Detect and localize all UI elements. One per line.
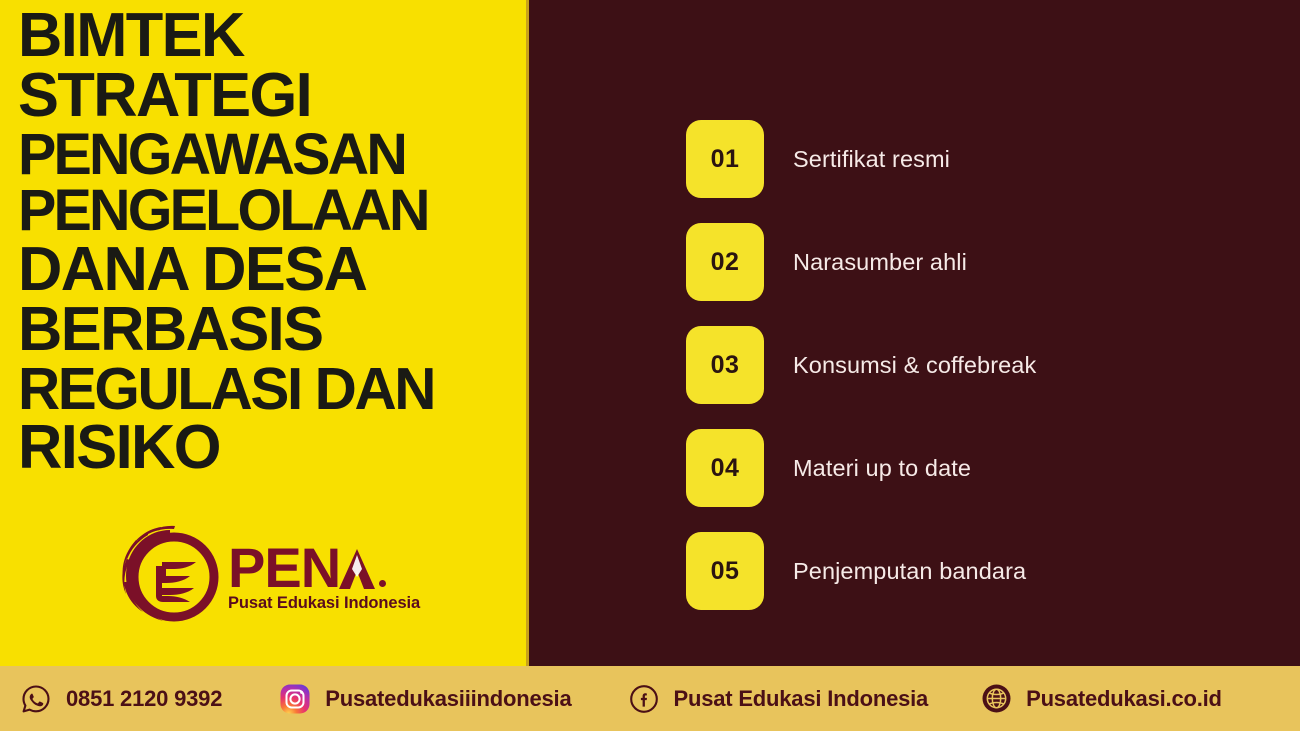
feature-item-01: 01 Sertifikat resmi (686, 120, 1246, 198)
instagram-icon (279, 683, 311, 715)
feature-number-badge: 04 (686, 429, 764, 507)
whatsapp-number: 0851 2120 9392 (66, 686, 222, 712)
website-url: Pusatedukasi.co.id (1026, 686, 1222, 712)
pena-wordmark-text: PEN (228, 542, 420, 594)
pena-circular-feather-emblem-icon (118, 524, 222, 628)
facebook-icon (628, 683, 660, 715)
feature-item-02: 02 Narasumber ahli (686, 223, 1246, 301)
pena-letters: PEN (228, 536, 340, 599)
title-line-1: BIMTEK (18, 6, 523, 66)
pena-logo: PEN Pusat Edukasi Indonesia (118, 522, 418, 630)
pen-nib-a-icon (337, 547, 377, 591)
feature-label: Penjemputan bandara (793, 558, 1026, 585)
title-line-6: BERBASIS (18, 300, 523, 360)
footer-contact-bar: 0851 2120 9392 (0, 666, 1300, 731)
pena-dot-icon (379, 580, 386, 587)
promotional-banner: BIMTEK STRATEGI PENGAWASAN PENGELOLAAN D… (0, 0, 1300, 731)
pena-wordmark: PEN Pusat Edukasi Indonesia (228, 540, 420, 613)
whatsapp-icon (20, 683, 52, 715)
left-yellow-panel: BIMTEK STRATEGI PENGAWASAN PENGELOLAAN D… (0, 0, 529, 666)
page-title: BIMTEK STRATEGI PENGAWASAN PENGELOLAAN D… (18, 6, 528, 479)
title-line-4: PENGELOLAAN (18, 183, 523, 240)
feature-label: Sertifikat resmi (793, 146, 950, 173)
title-line-5: DANA DESA (18, 240, 523, 300)
feature-item-05: 05 Penjemputan bandara (686, 532, 1246, 610)
feature-list: 01 Sertifikat resmi 02 Narasumber ahli 0… (686, 120, 1246, 610)
globe-icon (980, 683, 1012, 715)
feature-item-03: 03 Konsumsi & coffebreak (686, 326, 1246, 404)
contact-instagram[interactable]: Pusatedukasiiindonesia (279, 683, 571, 715)
feature-label: Narasumber ahli (793, 249, 967, 276)
title-line-8: RISIKO (18, 418, 523, 478)
feature-item-04: 04 Materi up to date (686, 429, 1246, 507)
feature-number-badge: 05 (686, 532, 764, 610)
title-line-3: PENGAWASAN (18, 127, 523, 184)
instagram-handle: Pusatedukasiiindonesia (325, 686, 571, 712)
contact-whatsapp[interactable]: 0851 2120 9392 (20, 683, 222, 715)
facebook-page: Pusat Edukasi Indonesia (674, 686, 929, 712)
feature-number-badge: 02 (686, 223, 764, 301)
contact-website[interactable]: Pusatedukasi.co.id (980, 683, 1222, 715)
feature-label: Konsumsi & coffebreak (793, 352, 1036, 379)
feature-number-badge: 01 (686, 120, 764, 198)
title-line-7: REGULASI DAN (18, 361, 523, 419)
contact-facebook[interactable]: Pusat Edukasi Indonesia (628, 683, 929, 715)
feature-label: Materi up to date (793, 455, 971, 482)
feature-number-badge: 03 (686, 326, 764, 404)
title-line-2: STRATEGI (18, 66, 523, 126)
